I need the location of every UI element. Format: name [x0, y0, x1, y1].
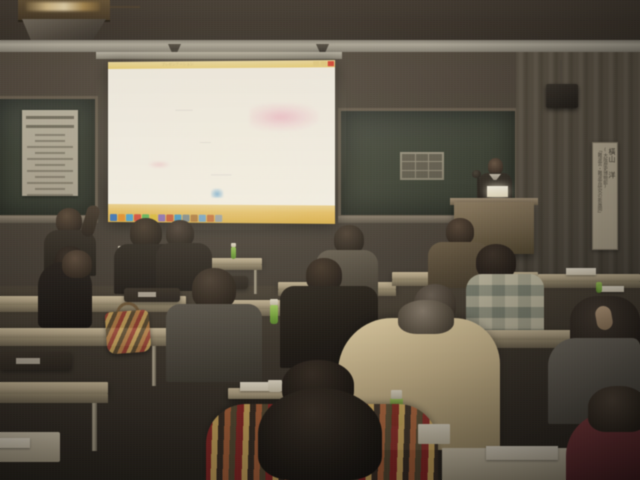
attendee-grey-sweater-body: [166, 304, 262, 382]
desk-apron: [538, 282, 640, 288]
window-buttons[interactable]: [313, 61, 335, 66]
clock-icon[interactable]: [215, 215, 222, 222]
desk-leg: [92, 403, 97, 451]
lecture-hall-photo: 橫山 洋 (大阪歴史博物館) 「難波宮・難波宮研究の新展開」 プレゼンテーション: [0, 0, 640, 480]
student-desk: [538, 274, 640, 282]
screen-mount-rail: [96, 52, 342, 59]
grid-schedule-sign: [400, 152, 444, 180]
wall-speaker: [546, 84, 578, 108]
bottle-cap: [270, 299, 278, 305]
projection-screen: プレゼンテーション: [108, 60, 335, 224]
seat-number-tag: [138, 292, 156, 297]
attendee-maroon-top-head: [588, 386, 640, 432]
slide-content-area: [108, 67, 335, 205]
bottle-cap: [231, 243, 236, 247]
browser-icon[interactable]: [126, 214, 133, 221]
gooseneck-microphone: [472, 170, 481, 178]
start-icon[interactable]: [110, 214, 117, 221]
pink-accent-mark: [148, 161, 170, 168]
curtain-shadow: [516, 52, 640, 302]
patterned-handbag: [105, 310, 152, 355]
speaker-mount-rod: [560, 60, 562, 86]
desk-leg: [152, 346, 156, 386]
paper-cup: [268, 380, 282, 392]
paper-cup: [418, 424, 450, 444]
attendee-patterned-sweater-head: [258, 388, 382, 480]
image-icon[interactable]: [158, 214, 165, 221]
os-logo: [211, 189, 223, 198]
projector-lamp-glow: [26, 2, 100, 11]
posted-notice-sheet: [22, 110, 78, 196]
attendee-khaki-jacket-hair: [398, 300, 454, 334]
pink-image-region: [250, 103, 319, 131]
desk-leg: [254, 270, 257, 294]
network-icon[interactable]: [199, 215, 206, 222]
handout-paper: [486, 446, 558, 460]
close-icon[interactable]: [328, 61, 334, 66]
minimize-icon[interactable]: [313, 61, 319, 66]
seat-number-tag: [16, 358, 40, 364]
attendee-right-rear: [446, 218, 474, 245]
presenter-laptop-display: [487, 186, 508, 197]
green-tea-bottle: [596, 282, 602, 293]
banner-name: 橫山 洋: [608, 148, 615, 244]
desk-apron: [0, 394, 108, 403]
attendee-second-left: [62, 250, 92, 278]
maximize-icon[interactable]: [320, 61, 326, 66]
handout-paper: [566, 268, 596, 275]
banner-affiliation: (大阪歴史博物館): [602, 148, 607, 244]
folder-icon[interactable]: [118, 214, 125, 221]
handout-paper: [0, 438, 30, 448]
bottle-cap: [391, 390, 402, 399]
desk-apron: [0, 305, 186, 312]
settings-icon[interactable]: [191, 215, 198, 222]
green-tea-bottle: [231, 247, 236, 259]
green-tea-bottle: [270, 305, 278, 324]
banner-topic: 「難波宮・難波宮研究の新展開」: [596, 148, 601, 244]
vertical-banner: 橫山 洋 (大阪歴史博物館) 「難波宮・難波宮研究の新展開」: [592, 142, 618, 250]
volume-icon[interactable]: [207, 215, 214, 222]
student-desk: [0, 382, 108, 394]
